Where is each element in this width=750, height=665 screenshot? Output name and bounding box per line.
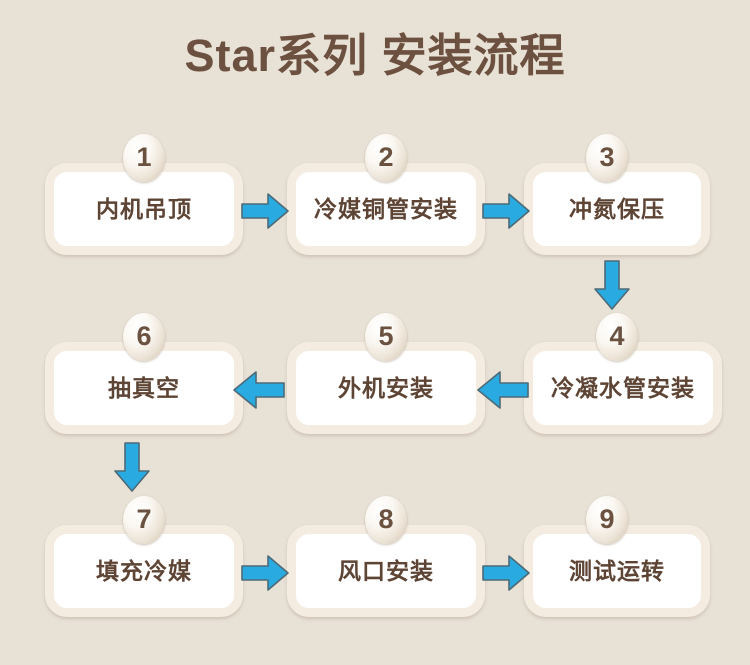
flow-node-1-number: 1 bbox=[136, 144, 151, 171]
flow-node-3-number: 3 bbox=[599, 144, 614, 171]
flow-node-6-label: 抽真空 bbox=[108, 377, 180, 400]
flow-node-8-badge: 8 bbox=[365, 496, 407, 544]
arrow-2-to-3-right-icon bbox=[481, 192, 531, 230]
flow-node-9-number: 9 bbox=[599, 506, 614, 533]
arrow-6-to-7-down-icon bbox=[113, 441, 151, 493]
flow-node-7-label: 填充冷媒 bbox=[96, 560, 192, 583]
arrow-3-to-4-down-icon bbox=[593, 259, 631, 311]
flowchart-page: Star系列 安装流程 内机吊顶 1 冷媒铜管安装 2 冲氮保压 3 抽真空 bbox=[0, 0, 750, 665]
flow-node-8-number: 8 bbox=[378, 506, 393, 533]
flow-node-4-number: 4 bbox=[609, 323, 624, 350]
flow-node-5-number: 5 bbox=[378, 323, 393, 350]
arrow-7-to-8-right-icon bbox=[240, 554, 290, 592]
page-title: Star系列 安装流程 bbox=[0, 26, 750, 86]
flow-node-6-number: 6 bbox=[136, 323, 151, 350]
flow-node-3-label: 冲氮保压 bbox=[569, 198, 665, 221]
flow-node-2-badge: 2 bbox=[365, 134, 407, 182]
flow-node-1-label: 内机吊顶 bbox=[96, 198, 192, 221]
flow-node-7-badge: 7 bbox=[123, 496, 165, 544]
arrow-5-to-6-left-icon bbox=[232, 370, 286, 410]
flow-node-7-number: 7 bbox=[136, 506, 151, 533]
flow-node-6-badge: 6 bbox=[123, 313, 165, 361]
arrow-1-to-2-right-icon bbox=[240, 192, 290, 230]
flow-node-9-label: 测试运转 bbox=[569, 560, 665, 583]
flow-node-1-badge: 1 bbox=[123, 134, 165, 182]
flow-node-2-number: 2 bbox=[378, 144, 393, 171]
flow-node-5-label: 外机安装 bbox=[338, 377, 434, 400]
flow-node-4-label: 冷凝水管安装 bbox=[551, 377, 695, 400]
flow-node-3-badge: 3 bbox=[586, 134, 628, 182]
flow-node-2-label: 冷媒铜管安装 bbox=[314, 198, 458, 221]
flow-node-9-badge: 9 bbox=[586, 496, 628, 544]
flow-node-4-badge: 4 bbox=[596, 313, 638, 361]
flow-node-5-badge: 5 bbox=[365, 313, 407, 361]
flow-node-8-label: 风口安装 bbox=[338, 560, 434, 583]
arrow-8-to-9-right-icon bbox=[481, 554, 531, 592]
arrow-4-to-5-left-icon bbox=[476, 370, 530, 410]
